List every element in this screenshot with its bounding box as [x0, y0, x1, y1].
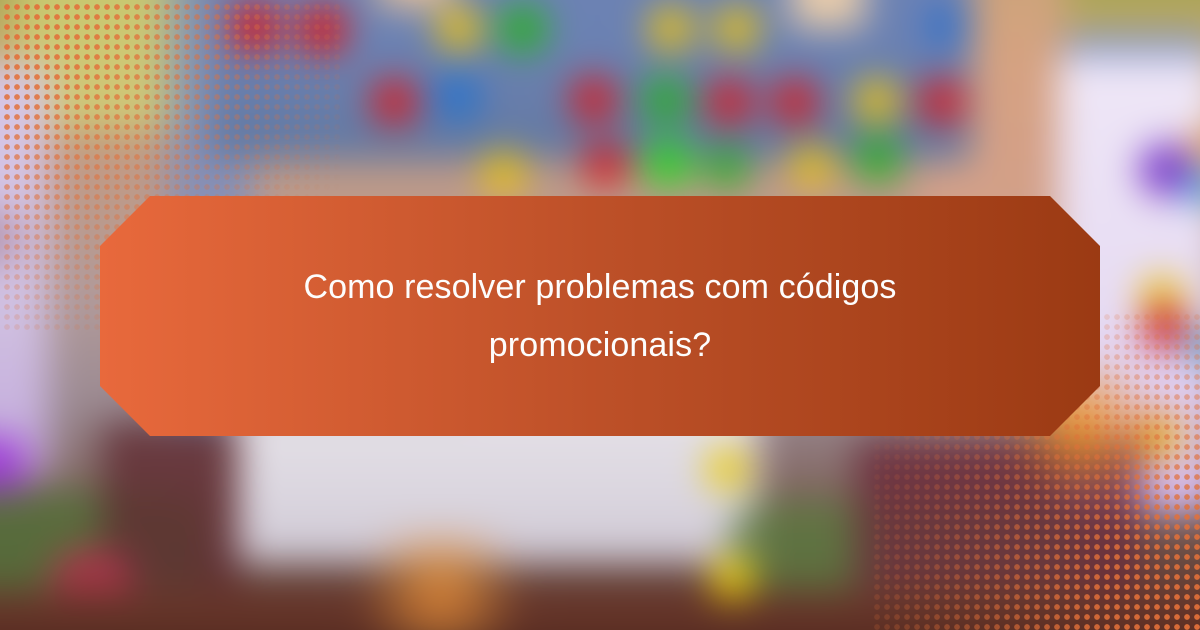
game-candy: [791, 144, 833, 186]
scene-cream-panel-c: [791, 0, 865, 29]
game-candy: [231, 4, 278, 51]
game-candy: [435, 74, 480, 119]
game-candy: [642, 138, 693, 189]
game-candy: [642, 77, 689, 124]
game-candy: [854, 136, 901, 183]
game-candy: [299, 7, 346, 54]
page-title: Como resolver problemas com códigos prom…: [255, 258, 945, 374]
game-candy: [570, 77, 617, 124]
scene-cream-panel-b: [377, 0, 451, 8]
game-candy: [918, 79, 965, 126]
game-candy: [710, 556, 755, 601]
game-candy: [706, 79, 753, 126]
game-candy: [649, 7, 694, 52]
social-share-card: Como resolver problemas com códigos prom…: [0, 0, 1200, 630]
game-candy: [437, 7, 482, 52]
side-panel-left: [0, 64, 49, 477]
game-candy: [481, 151, 526, 196]
game-candy: [714, 7, 759, 52]
title-banner: Como resolver problemas com códigos prom…: [100, 196, 1100, 436]
game-candy: [1149, 424, 1181, 456]
game-candy: [924, 2, 971, 49]
game-candy: [706, 146, 748, 188]
scene-wood-band: [0, 591, 1200, 630]
game-candy: [854, 79, 899, 124]
game-candy: [498, 4, 547, 53]
game-candy: [772, 79, 819, 126]
game-candy: [371, 79, 418, 126]
game-candy: [706, 448, 748, 490]
game-candy: [1143, 305, 1188, 350]
game-candy: [583, 142, 628, 187]
scene-glow-bottom: [346, 532, 537, 630]
